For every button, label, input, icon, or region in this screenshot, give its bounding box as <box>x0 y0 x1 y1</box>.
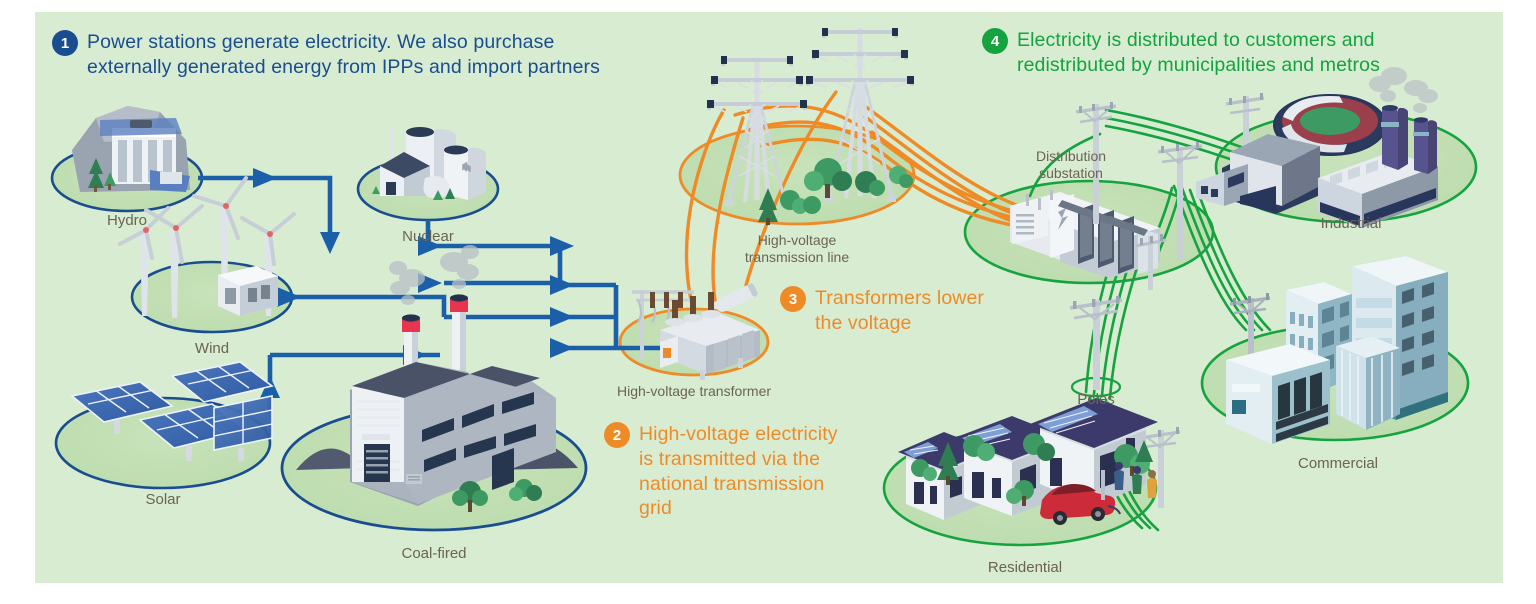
step-3-text: Transformers lower the voltage <box>815 286 984 336</box>
step-2-text: High-voltage electricity is transmitted … <box>639 422 838 521</box>
step-3-callout: 3 Transformers lower the voltage <box>780 286 984 336</box>
caption-poles: Poles <box>1048 391 1144 409</box>
caption-hydro: Hydro <box>77 212 177 230</box>
caption-transformer: High-voltage transformer <box>594 383 794 400</box>
caption-residential: Residential <box>965 559 1085 577</box>
caption-transmission-line: High-voltage transmission line <box>702 232 892 266</box>
caption-substation: Distribution substation <box>1008 148 1134 182</box>
step-3-badge: 3 <box>780 286 806 312</box>
step-1-text: Power stations generate electricity. We … <box>87 30 600 80</box>
step-1-badge: 1 <box>52 30 78 56</box>
step-2-badge: 2 <box>604 422 630 448</box>
step-4-badge: 4 <box>982 28 1008 54</box>
step-4-text: Electricity is distributed to customers … <box>1017 28 1380 78</box>
step-2-callout: 2 High-voltage electricity is transmitte… <box>604 422 838 521</box>
caption-commercial: Commercial <box>1278 455 1398 473</box>
caption-industrial: Industrial <box>1296 215 1406 233</box>
step-4-callout: 4 Electricity is distributed to customer… <box>982 28 1380 78</box>
caption-nuclear: Nuclear <box>378 228 478 246</box>
caption-solar: Solar <box>113 491 213 509</box>
step-1-callout: 1 Power stations generate electricity. W… <box>52 30 600 80</box>
infographic-stage: 1 Power stations generate electricity. W… <box>0 0 1536 604</box>
caption-wind: Wind <box>162 340 262 358</box>
caption-coal: Coal-fired <box>384 545 484 563</box>
